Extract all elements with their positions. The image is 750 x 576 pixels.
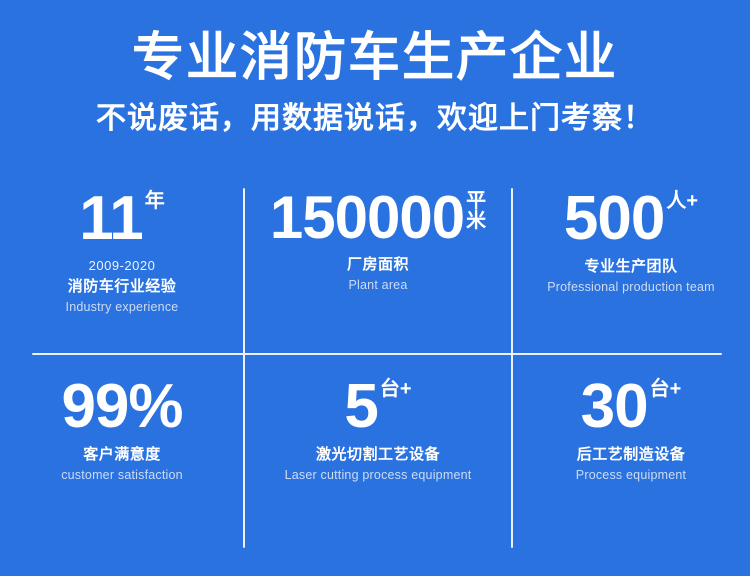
stat-unit-line-1: 台+ (650, 379, 682, 400)
stat-date-range: 2009-2020 (89, 258, 156, 274)
stat-label-cn: 专业生产团队 (584, 257, 677, 276)
stat-figure: 150000 平 米 (270, 188, 486, 248)
grid-divider-vertical-left (243, 188, 245, 548)
stat-cell-plant-area: 150000 平 米 厂房面积 Plant area (244, 172, 512, 354)
stat-label-en: Plant area (349, 277, 408, 293)
stat-label-en: Process equipment (576, 467, 686, 483)
banner-header: 专业消防车生产企业 不说废话，用数据说话，欢迎上门考察！ (0, 0, 750, 138)
stats-grid: 11 年 2009-2020 消防车行业经验 Industry experien… (0, 172, 750, 552)
stat-label-cn: 消防车行业经验 (68, 277, 177, 296)
stat-unit: 台+ (380, 379, 412, 400)
stat-unit-line-1: 平 (466, 191, 486, 211)
stat-figure: 500 人+ (564, 188, 698, 250)
stat-unit-line-1: 人+ (666, 191, 698, 212)
grid-divider-horizontal (32, 353, 722, 355)
stat-unit: 年 (145, 191, 165, 212)
stat-label-cn: 后工艺制造设备 (577, 445, 686, 464)
stat-unit-line-2: 米 (466, 211, 486, 231)
stat-number: 11 (79, 188, 143, 250)
stat-number: 99% (61, 376, 182, 438)
stat-unit: 人+ (666, 191, 698, 212)
grid-divider-vertical-right (511, 188, 513, 548)
stat-number: 30 (581, 376, 648, 438)
page-subtitle: 不说废话，用数据说话，欢迎上门考察！ (0, 100, 750, 138)
stat-figure: 11 年 (79, 188, 165, 250)
stat-number: 150000 (270, 188, 464, 248)
promo-banner: 专业消防车生产企业 不说废话，用数据说话，欢迎上门考察！ 11 年 2009-2… (0, 0, 750, 576)
stat-label-en: Laser cutting process equipment (285, 467, 472, 483)
stat-label-cn: 激光切割工艺设备 (316, 445, 440, 464)
page-title: 专业消防车生产企业 (0, 26, 750, 90)
stat-figure: 99% (61, 376, 182, 438)
stat-number: 500 (564, 188, 664, 250)
stat-cell-production-team: 500 人+ 专业生产团队 Professional production te… (512, 172, 750, 354)
stat-cell-industry-experience: 11 年 2009-2020 消防车行业经验 Industry experien… (0, 172, 244, 354)
stat-cell-process-equipment: 30 台+ 后工艺制造设备 Process equipment (512, 354, 750, 536)
stat-label-cn: 客户满意度 (83, 445, 161, 464)
stat-unit-line-1: 台+ (380, 379, 412, 400)
stat-figure: 5 台+ (344, 376, 411, 438)
stat-label-en: customer satisfaction (61, 467, 183, 483)
stat-unit: 台+ (650, 379, 682, 400)
stat-cell-laser-cutting-equipment: 5 台+ 激光切割工艺设备 Laser cutting process equi… (244, 354, 512, 536)
stat-unit: 平 米 (466, 191, 486, 231)
stat-label-en: Professional production team (547, 279, 715, 295)
stat-unit-line-1: 年 (145, 191, 165, 212)
stat-cell-customer-satisfaction: 99% 客户满意度 customer satisfaction (0, 354, 244, 536)
stat-figure: 30 台+ (581, 376, 682, 438)
stat-label-cn: 厂房面积 (347, 255, 409, 274)
stat-label-en: Industry experience (66, 299, 179, 315)
stat-number: 5 (344, 376, 377, 438)
